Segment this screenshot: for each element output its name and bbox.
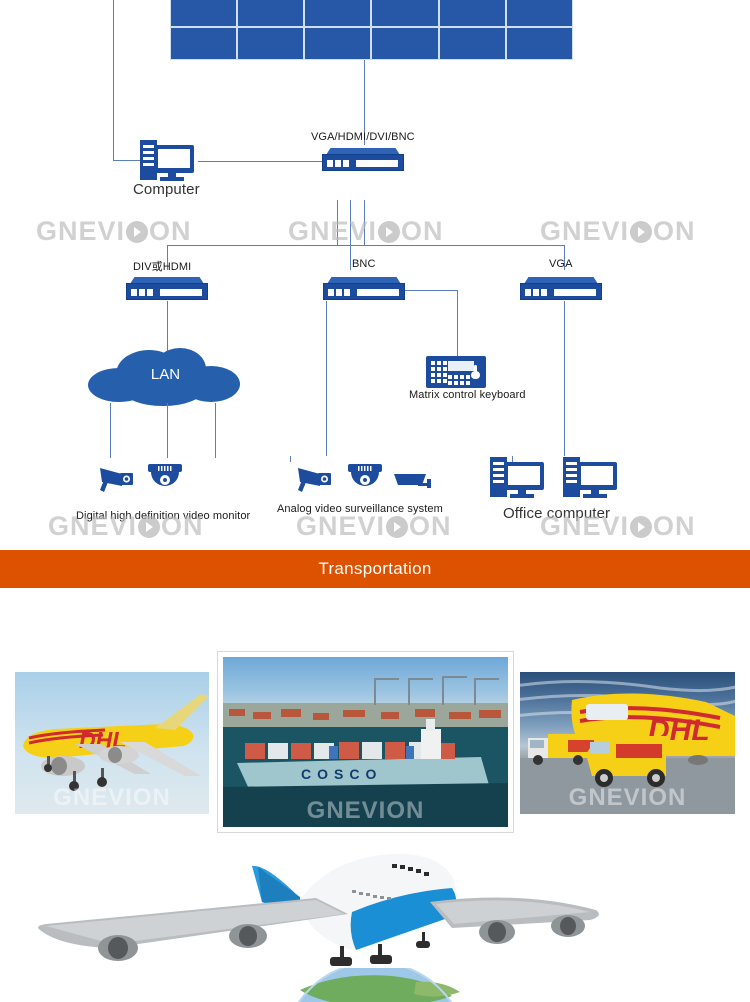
sea-freight-photo: COSCO GNEVION <box>218 652 513 832</box>
connector-wall-to-computer <box>113 0 114 160</box>
lan-label: LAN <box>88 366 243 383</box>
watermark-genevision: GNEVION <box>48 511 204 542</box>
dome-camera-icon <box>348 462 382 492</box>
dvi-hdmi-label: DIV或HDMI <box>133 258 191 274</box>
connector-lan-to-camera-1 <box>110 403 111 458</box>
joystick-icon <box>469 365 482 379</box>
banner-title: Transportation <box>318 559 431 579</box>
connector-bnc-to-keyboard-elbow <box>405 290 458 291</box>
matrix-switcher-device <box>322 148 404 172</box>
computer-monitor-icon <box>154 145 194 173</box>
watermark-genevision: GNEVION <box>288 216 444 247</box>
video-wall-cell <box>440 0 505 26</box>
video-wall-cell <box>171 0 236 26</box>
global-air-photo <box>0 840 750 1002</box>
computer-label: Computer <box>133 181 200 198</box>
svg-text:COSCO: COSCO <box>301 766 382 782</box>
page-root: Computer VGA/HDMI/DVI/BNC GNEVION GNEVIO… <box>0 0 750 1002</box>
dome-camera-icon <box>148 462 182 492</box>
connector-wall-to-computer-elbow <box>113 160 141 161</box>
video-wall-cell <box>372 28 437 59</box>
play-circle-icon <box>138 516 160 538</box>
video-wall-cell <box>238 28 303 59</box>
video-wall <box>170 0 573 60</box>
connector-lan-to-camera-3 <box>215 403 216 458</box>
video-wall-cell <box>305 0 370 26</box>
video-wall-cell <box>440 28 505 59</box>
bullet-camera-icon <box>92 462 138 494</box>
road-freight-photo: DHL GNEVION <box>520 672 735 814</box>
matrix-label: VGA/HDMI/DVI/BNC <box>311 131 415 143</box>
watermark-genevision: GNEVION <box>540 216 696 247</box>
transportation-banner: Transportation <box>0 550 750 588</box>
connector-dvi-to-lan <box>167 301 168 353</box>
office-computer-icon <box>490 457 546 499</box>
video-wall-cell <box>507 0 572 26</box>
office-computer-icon <box>563 457 619 499</box>
watermark-genevision: GNEVION <box>307 797 425 825</box>
watermark-genevision: GNEVION <box>296 511 452 542</box>
box-camera-icon <box>392 470 436 492</box>
watermark-genevision: GNEVION <box>36 216 192 247</box>
matrix-keyboard-label: Matrix control keyboard <box>409 389 526 401</box>
watermark-genevision: GNEVION <box>569 784 687 812</box>
video-wall-cell <box>238 0 303 26</box>
matrix-control-keyboard-icon <box>426 356 486 388</box>
connector-bus-to-bnc <box>350 245 351 270</box>
connector-bnc-to-keyboard <box>457 290 458 356</box>
video-wall-cell <box>372 0 437 26</box>
bnc-label: BNC <box>352 258 376 270</box>
connector-lan-to-camera-2 <box>167 403 168 458</box>
vga-device <box>520 277 602 301</box>
video-wall-cell <box>305 28 370 59</box>
connector-vga-to-office <box>564 301 565 456</box>
play-circle-icon <box>386 516 408 538</box>
bullet-camera-icon <box>290 462 336 494</box>
network-topology-diagram: Computer VGA/HDMI/DVI/BNC GNEVION GNEVIO… <box>0 0 750 550</box>
bnc-device <box>323 277 405 301</box>
vga-label: VGA <box>549 258 573 270</box>
video-wall-cell <box>507 28 572 59</box>
connector-bnc-to-analog-cameras <box>326 301 327 456</box>
lan-cloud: LAN <box>88 348 243 406</box>
air-freight-photo: DHL GNEVION <box>15 672 209 814</box>
connector-computer-to-matrix <box>198 161 322 162</box>
watermark-genevision: GNEVION <box>540 511 696 542</box>
watermark-genevision: GNEVION <box>53 784 171 812</box>
play-circle-icon <box>378 221 400 243</box>
play-circle-icon <box>126 221 148 243</box>
play-circle-icon <box>630 221 652 243</box>
computer-icon <box>140 140 196 182</box>
video-wall-cell <box>171 28 236 59</box>
play-circle-icon <box>630 516 652 538</box>
dvi-hdmi-device <box>126 277 208 301</box>
